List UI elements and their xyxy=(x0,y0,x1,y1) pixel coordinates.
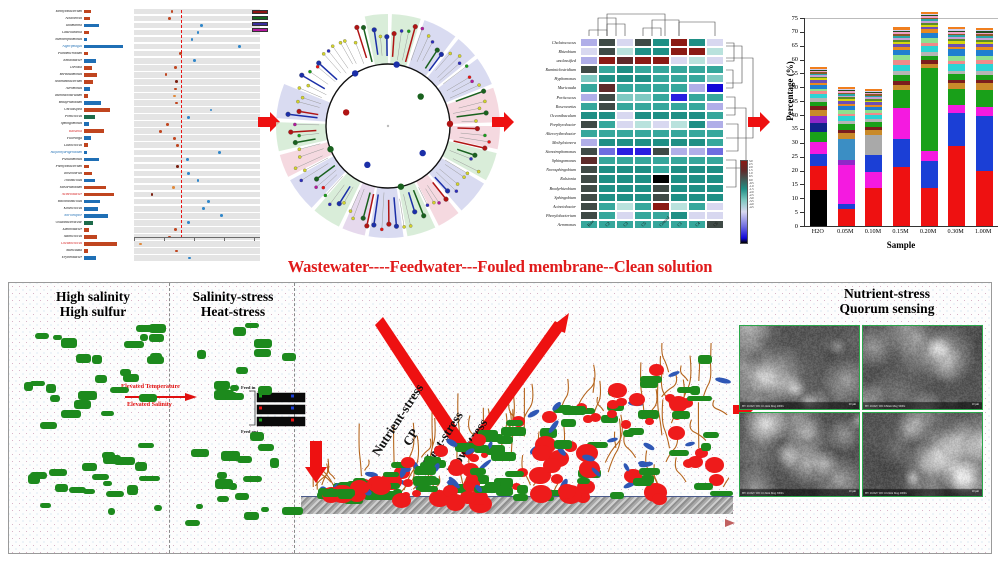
dot-row-stripe xyxy=(134,171,260,177)
dot-row xyxy=(134,191,260,198)
bacteria-green xyxy=(506,420,523,426)
heatmap-cell xyxy=(616,74,634,83)
taxa-label: Kaistella xyxy=(22,130,84,134)
sem-image-4: HV 20.0kV WD 10.0mm Mag 4000x 10 µm xyxy=(862,412,983,497)
eps-strand xyxy=(681,366,688,381)
taxa-bar-track xyxy=(84,8,134,15)
bacteria-red xyxy=(649,364,663,376)
heatmap-cell xyxy=(670,202,688,211)
heatmap-cell xyxy=(580,202,598,211)
heatmap-cell xyxy=(706,38,724,47)
taxa-bar xyxy=(84,115,95,119)
zone4-line2: Quorum sensing xyxy=(840,301,935,316)
taxa-row: Mesorhizobium xyxy=(22,184,134,191)
stacked-bar-segment xyxy=(976,107,993,116)
heatmap-cell xyxy=(652,56,670,65)
cladogram-internal-node xyxy=(398,183,404,189)
taxa-row: Bradyrhizobium xyxy=(22,100,134,107)
cladogram-node xyxy=(337,201,342,206)
heatmap-row-label: Oceanibaculum xyxy=(512,111,578,120)
heatmap-cell xyxy=(634,165,652,174)
heatmap-column-dendrogram xyxy=(580,10,724,36)
taxa-bar-track xyxy=(84,226,134,233)
taxa-bar-track xyxy=(84,50,134,57)
heatmap-cell xyxy=(688,211,706,220)
heatmap-row xyxy=(580,83,724,92)
heatmap-cell xyxy=(688,47,706,56)
bacteria-red xyxy=(590,413,601,422)
taxa-row: Sphingomonas xyxy=(22,121,134,128)
cladogram-node xyxy=(426,204,429,207)
dot-row-stripe xyxy=(134,213,260,219)
heatmap-cell xyxy=(670,211,688,220)
dot-row xyxy=(134,170,260,177)
stacked-bar xyxy=(893,27,910,226)
heatmap-cell xyxy=(598,174,616,183)
bacteria-green xyxy=(698,355,712,364)
x-tick-label: 1.00M xyxy=(968,228,998,235)
heatmap-cell xyxy=(652,102,670,111)
bacteria-green xyxy=(127,485,138,494)
dot-row-stripe xyxy=(134,100,260,106)
cladogram-node xyxy=(392,31,397,36)
zone-divider-1 xyxy=(169,283,170,553)
heatmap-cell xyxy=(616,156,634,165)
heatmap-cell xyxy=(634,47,652,56)
taxa-label: Xanthobacter xyxy=(22,228,84,232)
y-tick-label: 5 xyxy=(778,209,798,216)
heatmap-cell xyxy=(616,47,634,56)
bacteria-red xyxy=(645,418,653,425)
stacked-bar-segment xyxy=(948,105,965,114)
cladogram-node xyxy=(298,86,301,89)
effect-dot xyxy=(159,130,162,133)
bacteria-green xyxy=(416,476,437,481)
heatmap-cell xyxy=(616,211,634,220)
dendrogram-link xyxy=(726,124,738,151)
heatmap-cell xyxy=(652,147,670,156)
cladogram-node xyxy=(351,217,354,220)
heatmap-cell xyxy=(634,120,652,129)
taxa-label: Halothiobacillus xyxy=(22,200,84,204)
stacked-bar-segment xyxy=(893,139,910,167)
bacteria-green xyxy=(474,445,489,453)
taxa-row: Acinetobacter xyxy=(22,191,134,198)
taxa-row: Rhodobacter xyxy=(22,57,134,64)
bacteria-green xyxy=(135,462,147,471)
cladogram-node xyxy=(475,126,480,131)
bacteria-green xyxy=(562,406,586,415)
bacteria-green xyxy=(35,333,49,339)
x-tick-label: 0.15M xyxy=(886,228,916,235)
bacteria-green xyxy=(61,338,77,348)
heatmap-row-label: Hyphomonas xyxy=(512,74,578,83)
cladogram-node xyxy=(456,182,459,185)
cladogram-node xyxy=(384,34,389,39)
heatmap-cell xyxy=(616,111,634,120)
taxa-label: Sediminibacterium xyxy=(22,80,84,84)
bacteria-red xyxy=(629,393,645,406)
heatmap-row xyxy=(580,193,724,202)
dot-row xyxy=(134,128,260,135)
taxa-row: Algoriphagus xyxy=(22,43,134,50)
bacteria-green xyxy=(221,451,240,460)
y-tick-label: 70 xyxy=(778,28,798,35)
eps-strand xyxy=(359,424,361,477)
bacteria-red xyxy=(472,434,486,446)
sem-scale-1: 20 µm xyxy=(849,403,856,406)
bacteria-green xyxy=(491,452,516,461)
heatmap-cell xyxy=(616,138,634,147)
cladogram-node xyxy=(435,48,440,53)
heatmap-cell xyxy=(670,56,688,65)
heatmap-cell xyxy=(706,120,724,129)
y-tick-label: 45 xyxy=(778,98,798,105)
heatmap-cell xyxy=(598,156,616,165)
stacked-bar-segment xyxy=(865,155,882,172)
heatmap-cell xyxy=(616,147,634,156)
bacteria-green xyxy=(191,449,208,457)
dot-row xyxy=(134,71,260,78)
bacteria-green xyxy=(687,396,712,402)
taxa-row: Acidovorax xyxy=(22,15,134,22)
bacteria-green xyxy=(95,375,107,383)
dot-row xyxy=(134,142,260,149)
taxa-bar-track xyxy=(84,107,134,114)
heatmap-cell xyxy=(706,47,724,56)
taxa-bar-track xyxy=(84,191,134,198)
eps-strand xyxy=(658,380,662,435)
bacteria-green xyxy=(83,489,95,494)
taxa-label: Thiobacillus xyxy=(22,179,84,183)
effect-dot xyxy=(168,17,171,20)
heatmap-cell xyxy=(652,184,670,193)
heatmap-cell xyxy=(652,74,670,83)
stacked-bar-segment xyxy=(976,90,993,107)
taxa-label: Oxalobacteraceae xyxy=(22,221,84,225)
heatmap-cell xyxy=(616,56,634,65)
heatmap-cell xyxy=(598,129,616,138)
bacteria-blue xyxy=(714,376,730,384)
stacked-bar xyxy=(865,89,882,226)
bacteria-green xyxy=(233,327,246,336)
heatmap-row-label: Ralstonia xyxy=(512,174,578,183)
dot-row-stripe xyxy=(134,114,260,120)
cladogram-internal-node xyxy=(352,70,358,76)
effect-dot xyxy=(186,158,189,161)
bacteria-red xyxy=(446,494,466,510)
y-tick-mark xyxy=(800,212,804,213)
legend-swatch xyxy=(252,28,268,32)
heatmap-cell xyxy=(670,147,688,156)
bacteria-green xyxy=(470,468,486,475)
taxa-row: Salinicoccus xyxy=(22,234,134,241)
cladogram-node xyxy=(439,52,444,57)
cladogram-node xyxy=(298,155,301,158)
heatmap-cell xyxy=(706,138,724,147)
zone1-line2: High sulfur xyxy=(60,304,126,319)
heatmap-row-labels: ChelatococcusRhizobiumunclassifiedRumini… xyxy=(512,38,578,229)
taxa-bar-track xyxy=(84,219,134,226)
heatmap-row-label: Rhizobium xyxy=(512,47,578,56)
bacteria-green xyxy=(197,350,207,359)
bacteria-green xyxy=(243,476,262,482)
zone2-line1: Salinity-stress xyxy=(193,289,274,304)
taxa-row: Devosia xyxy=(22,64,134,71)
process-banner: Wastewater----Feedwater---Fouled membran… xyxy=(0,255,1000,279)
cladogram-internal-node xyxy=(364,162,370,168)
heatmap-cell xyxy=(634,174,652,183)
dot-row-stripe xyxy=(134,157,260,163)
heatmap-cell xyxy=(598,147,616,156)
dot-row-stripe xyxy=(134,135,260,141)
stacked-bar xyxy=(838,87,855,226)
taxa-bar xyxy=(84,59,96,63)
heatmap-cell xyxy=(688,202,706,211)
dot-row xyxy=(134,107,260,114)
heatmap-cell xyxy=(580,211,598,220)
taxa-bar-track xyxy=(84,234,134,241)
bacteria-red xyxy=(621,420,631,429)
bacteria-green xyxy=(78,391,97,400)
dot-row xyxy=(134,8,260,15)
y-tick-label: 25 xyxy=(778,153,798,160)
zone4-line1: Nutrient-stress xyxy=(844,286,930,301)
cladogram-node xyxy=(303,169,306,172)
cladogram-node xyxy=(468,76,471,79)
bacteria-red xyxy=(652,493,667,505)
dot-row xyxy=(134,149,260,156)
bacteria-red xyxy=(401,457,414,468)
bacteria-red xyxy=(371,478,391,494)
eps-strand xyxy=(662,399,669,448)
flow-arrow-3 xyxy=(748,112,770,132)
heatmap-cell xyxy=(688,147,706,156)
x-axis-line xyxy=(804,226,998,227)
cladogram-node xyxy=(444,197,449,202)
x-tick-label: H2O xyxy=(803,228,833,235)
bacteria-red xyxy=(434,445,448,457)
cladogram-node xyxy=(316,65,319,68)
taxa-label: Sphingomonas xyxy=(22,122,84,126)
heatmap-cell xyxy=(580,147,598,156)
heatmap-cell xyxy=(688,56,706,65)
heatmap-cell xyxy=(706,65,724,74)
bacteria-green xyxy=(92,355,101,364)
cladogram-node xyxy=(394,224,399,229)
dot-row xyxy=(134,219,260,226)
heatmap-cell xyxy=(580,93,598,102)
bacteria-green xyxy=(254,349,271,357)
bacteria-green xyxy=(690,386,700,395)
cladogram-node xyxy=(371,223,376,228)
taxa-bar-track xyxy=(84,156,134,163)
y-tick-mark xyxy=(800,115,804,116)
bacteria-green xyxy=(30,381,45,386)
heatmap-cell xyxy=(670,83,688,92)
cladogram-node xyxy=(324,194,327,197)
taxa-label: Roseovarius xyxy=(22,172,84,176)
taxa-bar-track xyxy=(84,163,134,170)
y-tick-label: 0 xyxy=(778,223,798,230)
heatmap-color-scale-ticks: 3.02.52.01.51.00.50.0-0.5-1.0-1.5-2.0-2.… xyxy=(749,160,754,210)
y-tick-mark xyxy=(800,198,804,199)
bacteria-green xyxy=(217,496,229,502)
heatmap-cell xyxy=(598,120,616,129)
dot-row-stripe xyxy=(134,79,260,85)
bacteria-green xyxy=(513,494,527,502)
bacteria-red xyxy=(616,398,627,407)
taxa-label: Algoriphagus xyxy=(22,45,84,49)
dot-row-stripe xyxy=(134,58,260,64)
dot-row-stripe xyxy=(134,16,260,22)
zone2-line2: Heat-stress xyxy=(201,304,265,319)
stacked-bar-segment xyxy=(810,123,827,132)
heatmap-column-label: C6 xyxy=(712,221,719,228)
heatmap-row xyxy=(580,56,724,65)
stacked-bar-segment xyxy=(893,108,910,139)
bacteria-green xyxy=(110,387,130,394)
taxa-bar-track xyxy=(84,170,134,177)
x-axis-label: Sample xyxy=(804,240,998,250)
heatmap-cell xyxy=(652,156,670,165)
dot-row xyxy=(134,22,260,29)
cladogram-node xyxy=(328,203,331,206)
cladogram-internal-node xyxy=(419,150,425,156)
dendrogram-link xyxy=(726,70,733,88)
heatmap-cell xyxy=(598,165,616,174)
taxa-bar xyxy=(84,158,99,162)
taxa-bar-track xyxy=(84,121,134,128)
dot-row-stripe xyxy=(134,164,260,170)
stacked-bar-segment xyxy=(921,161,938,188)
sem-scale-2: 10 µm xyxy=(972,403,979,406)
effect-dot xyxy=(207,200,210,203)
taxa-bar-track xyxy=(84,36,134,43)
taxa-bar xyxy=(84,122,89,126)
bacteria-green xyxy=(672,411,690,418)
taxa-label: Nitriliruptor xyxy=(22,214,84,218)
heatmap-cell xyxy=(580,65,598,74)
stacked-bar-segment xyxy=(976,83,993,90)
cladogram-node xyxy=(361,216,366,221)
bacteria-green xyxy=(383,472,399,478)
dot-row xyxy=(134,100,260,107)
dot-row xyxy=(134,177,260,184)
cladogram-internal-node xyxy=(447,121,453,127)
taxa-bar xyxy=(84,242,117,246)
taxa-row: Methylobacterium xyxy=(22,8,134,15)
cladogram-node xyxy=(293,140,298,145)
heatmap-cell xyxy=(634,138,652,147)
bacteria-green xyxy=(139,476,160,481)
heatmap-cell xyxy=(634,102,652,111)
cladogram-node xyxy=(437,201,440,204)
bacteria-green xyxy=(30,472,47,479)
taxa-bar xyxy=(84,101,101,105)
dotplot-tick xyxy=(164,238,165,241)
taxa-row: Porticoccus xyxy=(22,114,134,121)
zone2-title: Salinity-stress Heat-stress xyxy=(174,289,292,319)
cladogram-node xyxy=(300,179,303,182)
eps-strand xyxy=(713,400,727,415)
taxa-bar-track xyxy=(84,43,134,50)
dot-row xyxy=(134,64,260,71)
taxa-row: Muricauda xyxy=(22,248,134,255)
heatmap-cell xyxy=(688,184,706,193)
heatmap-row-label: Phenylobacterium xyxy=(512,211,578,220)
taxa-bar-track xyxy=(84,64,134,71)
elevated-temperature-label: Elevated Temperature xyxy=(121,383,180,390)
bacteria-green xyxy=(74,400,91,409)
taxa-bar xyxy=(84,17,90,21)
heatmap-cell xyxy=(580,156,598,165)
heatmap-cell xyxy=(634,184,652,193)
cladogram-node xyxy=(409,224,412,227)
heatmap-cell xyxy=(652,174,670,183)
cladogram-node xyxy=(421,213,426,218)
taxa-label: Salinicoccus xyxy=(22,235,84,239)
taxa-label: Lactococcus xyxy=(22,144,84,148)
heatmap-color-scale-bar xyxy=(740,160,748,244)
eps-strand xyxy=(365,460,369,471)
taxa-bar xyxy=(84,94,88,98)
stacked-bar-segment xyxy=(810,166,827,190)
taxa-label: Acidovorax xyxy=(22,17,84,21)
taxa-label: Ruminiclostridium xyxy=(22,94,84,98)
effect-dot xyxy=(139,243,142,246)
dotplot-tick xyxy=(194,238,195,241)
dot-row-stripe xyxy=(134,206,260,212)
stacked-bar-segment xyxy=(865,172,882,189)
heatmap-row xyxy=(580,47,724,56)
bacteria-green xyxy=(49,469,67,477)
y-tick-mark xyxy=(800,129,804,130)
y-tick-mark xyxy=(800,60,804,61)
dot-row-stripe xyxy=(134,86,260,92)
taxa-row: Sulfurihydrogenibium xyxy=(22,149,134,156)
taxa-label: Kineococcus xyxy=(22,207,84,211)
dot-row xyxy=(134,226,260,233)
taxa-row: Lactococcus xyxy=(22,142,134,149)
cladogram-node xyxy=(413,24,418,29)
heatmap-cell xyxy=(670,102,688,111)
dot-row xyxy=(134,248,260,255)
heatmap-cell xyxy=(688,156,706,165)
taxa-bar xyxy=(84,221,93,225)
taxa-label: Planomicrobium xyxy=(22,52,84,56)
stacked-bar-segment xyxy=(838,139,855,160)
legend-swatch xyxy=(252,22,268,26)
taxa-label: Rhodobacter xyxy=(22,59,84,63)
heatmap-cell xyxy=(670,38,688,47)
cladogram-node xyxy=(327,49,330,52)
heatmap-cell xyxy=(616,193,634,202)
zone1-line1: High salinity xyxy=(56,289,130,304)
dot-row xyxy=(134,212,260,219)
taxa-bar-track xyxy=(84,57,134,64)
heatmap-cell xyxy=(670,193,688,202)
x-tick-label: 0.10M xyxy=(858,228,888,235)
heatmap-row xyxy=(580,147,724,156)
bacteria-red xyxy=(668,426,686,441)
bacteria-blue xyxy=(668,370,681,378)
heatmap-cell xyxy=(688,83,706,92)
heatmap-cell xyxy=(670,165,688,174)
heatmap-row-label: Stenotrophomonas xyxy=(512,147,578,156)
taxa-bar-track xyxy=(84,114,134,121)
heatmap-cell xyxy=(706,111,724,120)
